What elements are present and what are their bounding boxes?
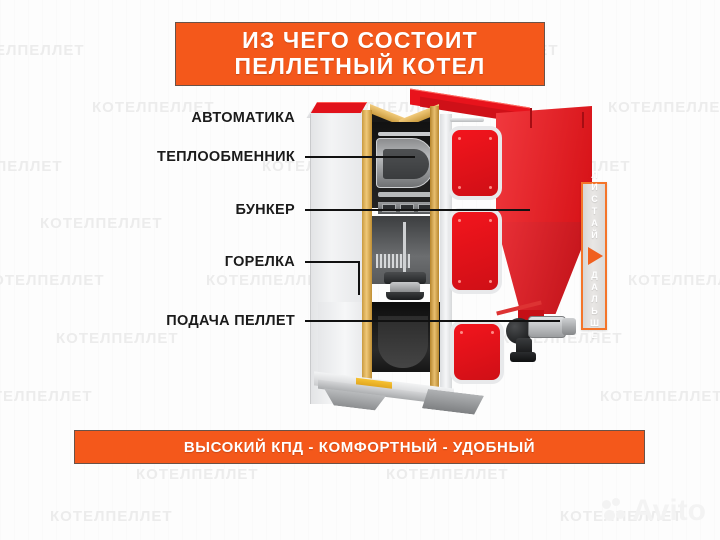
- door-fastener-icon: [458, 280, 461, 283]
- door-fastener-icon: [458, 186, 461, 189]
- door-fastener-icon: [489, 219, 492, 222]
- pellet-hopper-funnel-shade: [496, 222, 592, 314]
- hopper-lid-seam: [582, 112, 584, 128]
- boiler-door-lower: [450, 320, 504, 384]
- callout-label-gorelka: ГОРЕЛКА: [90, 254, 295, 270]
- callout-leader-gorelka-vertical: [358, 261, 360, 295]
- boiler-door-upper: [448, 126, 502, 200]
- auger-motor-cap: [562, 318, 576, 335]
- door-fastener-icon: [458, 219, 461, 222]
- watermark-text: КОТЕЛПЕЛЛЕТ: [0, 158, 63, 175]
- swipe-next-tab[interactable]: ЛИСТАЙ ДАЛЬШЕ: [581, 182, 607, 330]
- firebox-inner: [378, 316, 428, 368]
- callout-leader-bunker: [305, 209, 530, 211]
- flue-duct: [378, 202, 434, 214]
- watermark-text: КОТЕЛПЕЛЛЕТ: [386, 466, 509, 483]
- heat-exchanger-plate-top: [378, 132, 434, 136]
- burner-head-base: [386, 292, 424, 300]
- play-triangle-icon: [588, 247, 603, 265]
- infographic-canvas: КОТЕЛПЕЛЛЕТ КОТЕЛПЕЛЛЕТ КОТЕЛПЕЛЛЕТ КОТЕ…: [0, 0, 720, 540]
- avito-dots-icon: [602, 498, 628, 524]
- door-fastener-icon: [460, 331, 463, 334]
- pellet-feed-pipe: [403, 222, 406, 274]
- header-banner: ИЗ ЧЕГО СОСТОИТ ПЕЛЛЕТНЫЙ КОТЕЛ: [175, 22, 545, 86]
- watermark-text: КОТЕЛПЕЛЛЕТ: [600, 388, 720, 405]
- watermark-text: КОТЕЛПЕЛЛЕТ: [50, 508, 173, 525]
- footer-text: ВЫСОКИЙ КПД - КОМФОРТНЫЙ - УДОБНЫЙ: [184, 439, 535, 456]
- callout-label-podacha-pellet: ПОДАЧА ПЕЛЛЕТ: [50, 313, 295, 329]
- watermark-text: КОТЕЛПЕЛЛЕТ: [56, 330, 179, 347]
- auger-motor-foot: [510, 352, 536, 362]
- header-title-line1: ИЗ ЧЕГО СОСТОИТ: [234, 28, 485, 54]
- door-fastener-icon: [489, 280, 492, 283]
- header-title: ИЗ ЧЕГО СОСТОИТ ПЕЛЛЕТНЫЙ КОТЕЛ: [234, 28, 485, 80]
- heat-exchanger-tube: [376, 138, 434, 188]
- watermark-text: КОТЕЛПЕЛЛЕТ: [628, 272, 720, 289]
- door-fastener-icon: [489, 186, 492, 189]
- avito-wordmark: Avito: [632, 496, 706, 526]
- callout-leader-gorelka: [305, 261, 360, 263]
- insulation-edge-left: [362, 110, 372, 406]
- insulation-edge-right: [430, 106, 439, 406]
- callout-label-bunker: БУНКЕР: [90, 202, 295, 218]
- heat-exchanger-plate-bottom: [378, 192, 434, 197]
- pellet-boiler-illustration: [300, 96, 600, 416]
- boiler-left-red-strip: [311, 102, 367, 113]
- watermark-text: КОТЕЛПЕЛЛЕТ: [0, 388, 93, 405]
- hopper-lid-seam: [530, 108, 532, 128]
- swipe-tab-top-label: ЛИСТАЙ: [590, 170, 599, 242]
- watermark-text: КОТЕЛПЕЛЛЕТ: [560, 508, 683, 525]
- avito-watermark: Avito: [602, 496, 706, 526]
- callout-label-avtomatika: АВТОМАТИКА: [80, 110, 295, 126]
- swipe-tab-bottom-label: ДАЛЬШЕ: [590, 270, 599, 342]
- boiler-door-middle: [448, 208, 502, 294]
- callout-leader-teploobmennik: [305, 156, 415, 158]
- watermark-text: КОТЕЛПЕЛЛЕТ: [136, 466, 259, 483]
- door-fastener-icon: [489, 137, 492, 140]
- door-fastener-icon: [458, 137, 461, 140]
- watermark-text: КОТЕЛПЕЛЛЕТ: [608, 99, 720, 116]
- door-fastener-icon: [491, 331, 494, 334]
- watermark-text: КОТЕЛПЕЛЛЕТ: [0, 272, 105, 289]
- footer-banner: ВЫСОКИЙ КПД - КОМФОРТНЫЙ - УДОБНЫЙ: [74, 430, 645, 464]
- heat-exchanger-core: [383, 149, 429, 179]
- top-handle-pipe: [450, 118, 484, 122]
- callout-leader-podacha-pellet: [305, 320, 560, 322]
- pellet-hopper-sheen: [496, 106, 592, 224]
- watermark-text: КОТЕЛПЕЛЛЕТ: [0, 42, 85, 59]
- callout-label-teploobmennik: ТЕПЛООБМЕННИК: [60, 149, 295, 165]
- header-title-line2: ПЕЛЛЕТНЫЙ КОТЕЛ: [234, 54, 485, 80]
- boiler-leg-rear: [422, 388, 484, 416]
